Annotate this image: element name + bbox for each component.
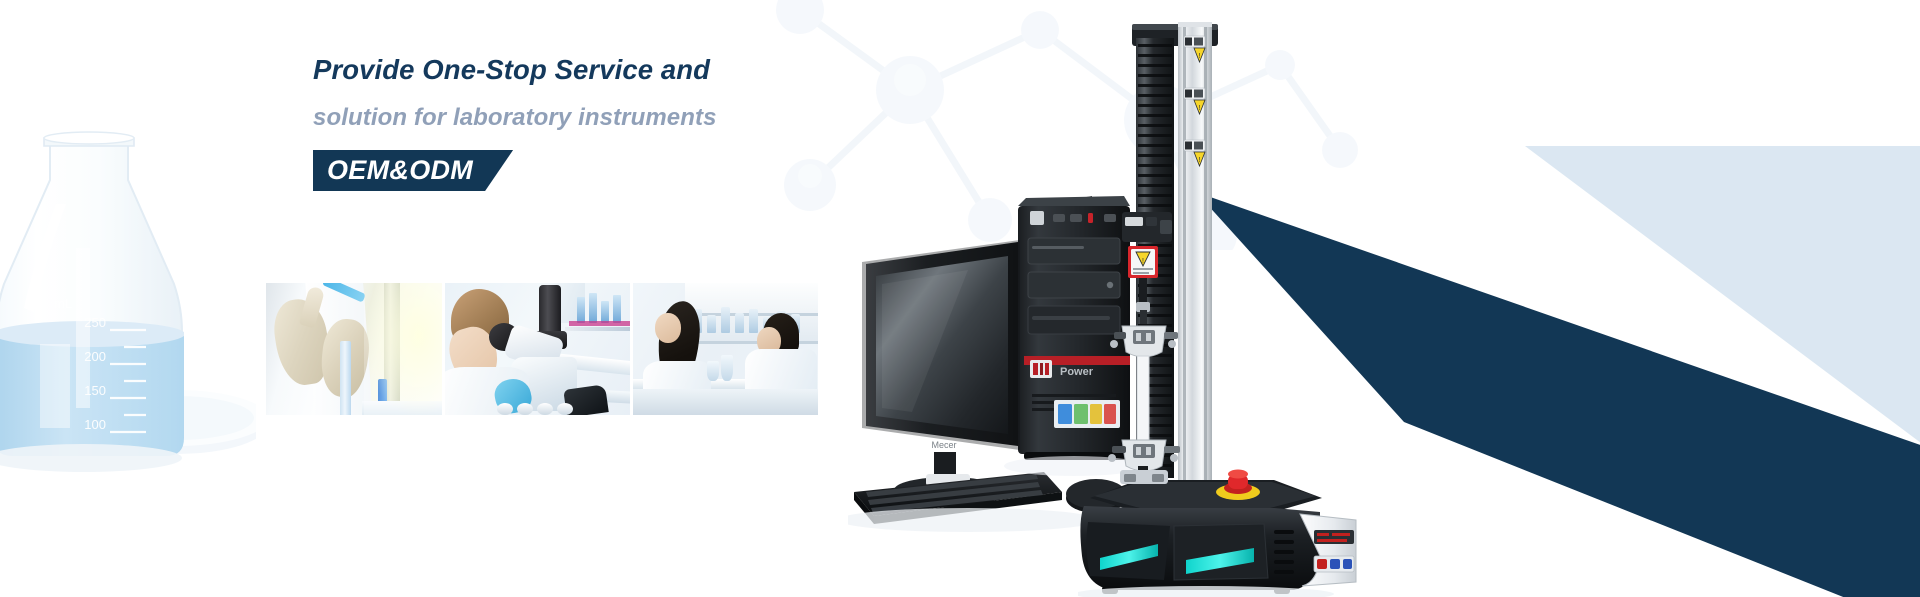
hero-banner: 250 200 150 100 mL Provide One-Stop Serv…: [0, 0, 1920, 597]
svg-text:!: !: [1199, 157, 1201, 164]
oem-odm-badge-label: OEM&ODM: [327, 150, 473, 191]
svg-text:!: !: [1142, 258, 1144, 265]
svg-text:!: !: [1199, 53, 1201, 60]
universal-testing-machine-illustration: ! ! ! !: [1078, 0, 1388, 597]
erlenmeyer-flask-illustration: 250 200 150 100 mL: [0, 108, 256, 508]
svg-text:Mecer: Mecer: [931, 440, 956, 450]
svg-text:100: 100: [84, 417, 106, 432]
svg-text:250: 250: [84, 315, 106, 330]
svg-text:200: 200: [84, 349, 106, 364]
oem-odm-badge-wrap: OEM&ODM: [313, 150, 513, 191]
photo-lab-technicians: [633, 283, 818, 415]
svg-text:150: 150: [84, 383, 106, 398]
svg-text:!: !: [1199, 105, 1201, 112]
oem-odm-badge: OEM&ODM: [313, 150, 513, 191]
photo-strip: [266, 283, 818, 415]
photo-pipetting-gloved-hands: [266, 283, 442, 415]
svg-text:mL: mL: [54, 296, 72, 311]
photo-microscope-researcher: [445, 283, 630, 415]
